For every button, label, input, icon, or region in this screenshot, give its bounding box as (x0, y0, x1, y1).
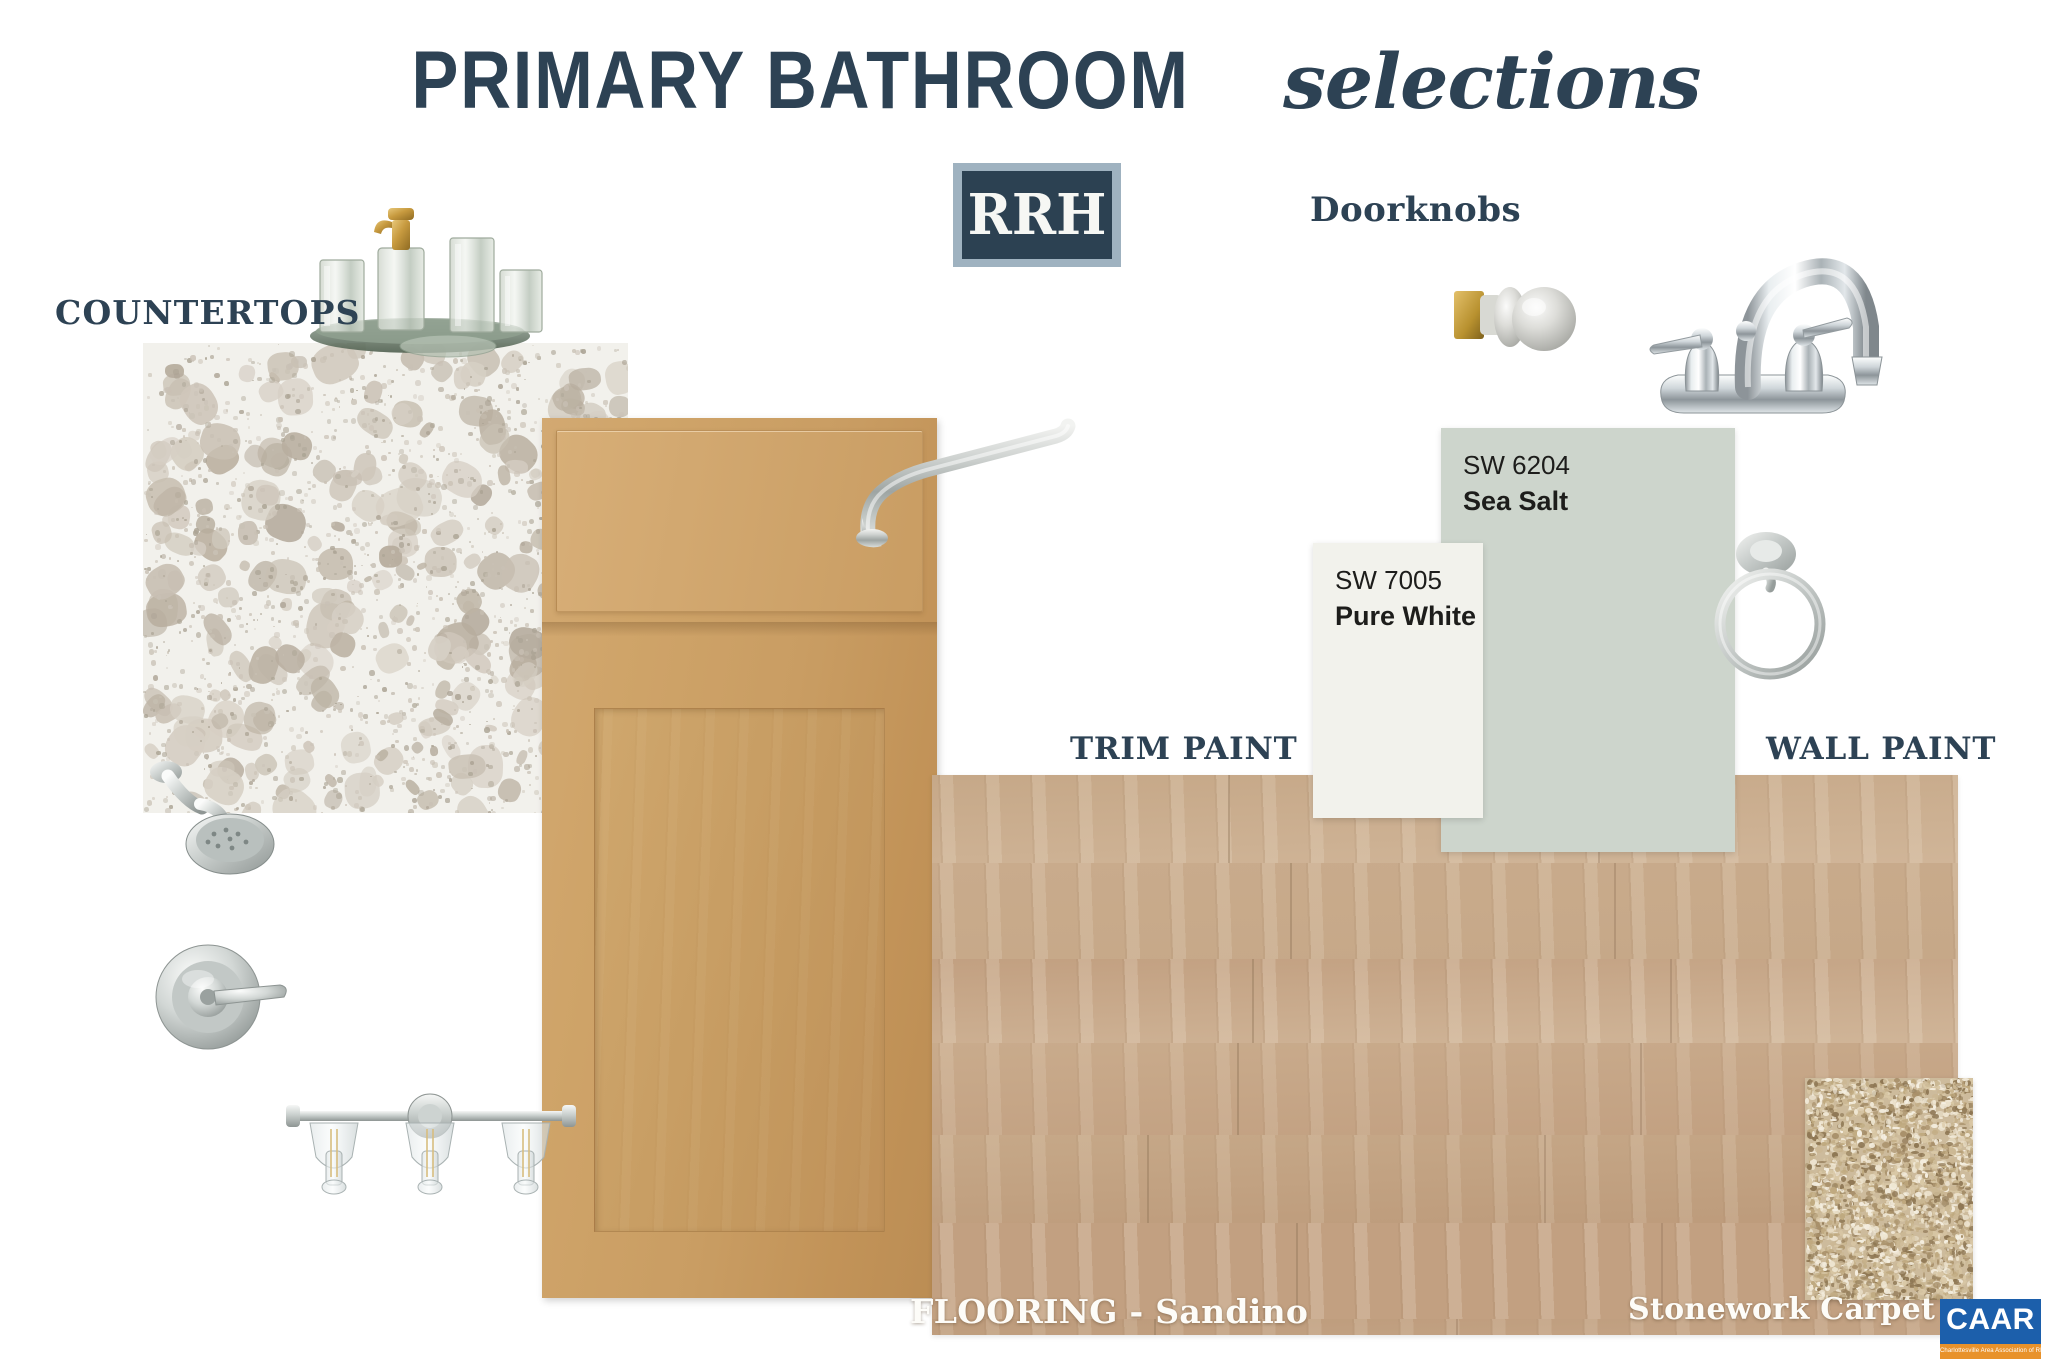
showerhead (146, 760, 326, 900)
wall-paint-name: Sea Salt (1463, 486, 1568, 517)
shower-valve-trim (146, 935, 306, 1065)
page-title: PRIMARY BATHROOM selections (0, 34, 2048, 128)
trim-paint-code: SW 7005 (1335, 565, 1442, 596)
caar-logo: CAAR Charlottesville Area Association of… (1940, 1299, 2041, 1359)
selections-board: PRIMARY BATHROOM selections RRH (0, 0, 2048, 1365)
trim-paint-label: TRIM PAINT (1070, 731, 1297, 767)
trim-paint-swatch: SW 7005 Pure White (1313, 543, 1483, 818)
satin-nickel-doorknob (1452, 265, 1592, 375)
doorknobs-label: Doorknobs (1310, 190, 1521, 230)
page-title-script: selections (1283, 37, 1700, 126)
towel-ring (1700, 520, 1840, 690)
glass-vanity-accessory-set (300, 190, 590, 360)
countertops-label: COUNTERTOPS (55, 293, 361, 332)
wall-paint-label: WALL PAINT (1766, 731, 1996, 767)
trim-paint-name: Pure White (1335, 601, 1476, 632)
caar-logo-text: CAAR (1940, 1303, 2041, 1337)
two-handle-chrome-faucet (1620, 215, 1920, 445)
wood-grain-texture (595, 709, 884, 1231)
cabinet-bar-pull (860, 392, 1110, 552)
flooring-label: FLOORING - Sandino (910, 1292, 1308, 1331)
cabinet-recessed-panel (594, 708, 885, 1232)
rrh-logo-text: RRH (968, 182, 1107, 248)
caar-logo-tagline: Charlottesville Area Association of REAL… (1940, 1344, 2041, 1359)
cabinet-reveal (542, 622, 937, 636)
wall-paint-swatch: SW 6204 Sea Salt (1441, 428, 1735, 852)
rrh-logo-box: RRH (962, 171, 1112, 259)
carpet-swatch (1805, 1078, 1973, 1300)
carpet-label: Stonework Carpet (1628, 1292, 1935, 1327)
three-light-vanity-bar (280, 1085, 600, 1285)
rrh-logo: RRH (953, 163, 1121, 267)
wall-paint-code: SW 6204 (1463, 450, 1570, 481)
page-title-main: PRIMARY BATHROOM (411, 34, 1189, 128)
